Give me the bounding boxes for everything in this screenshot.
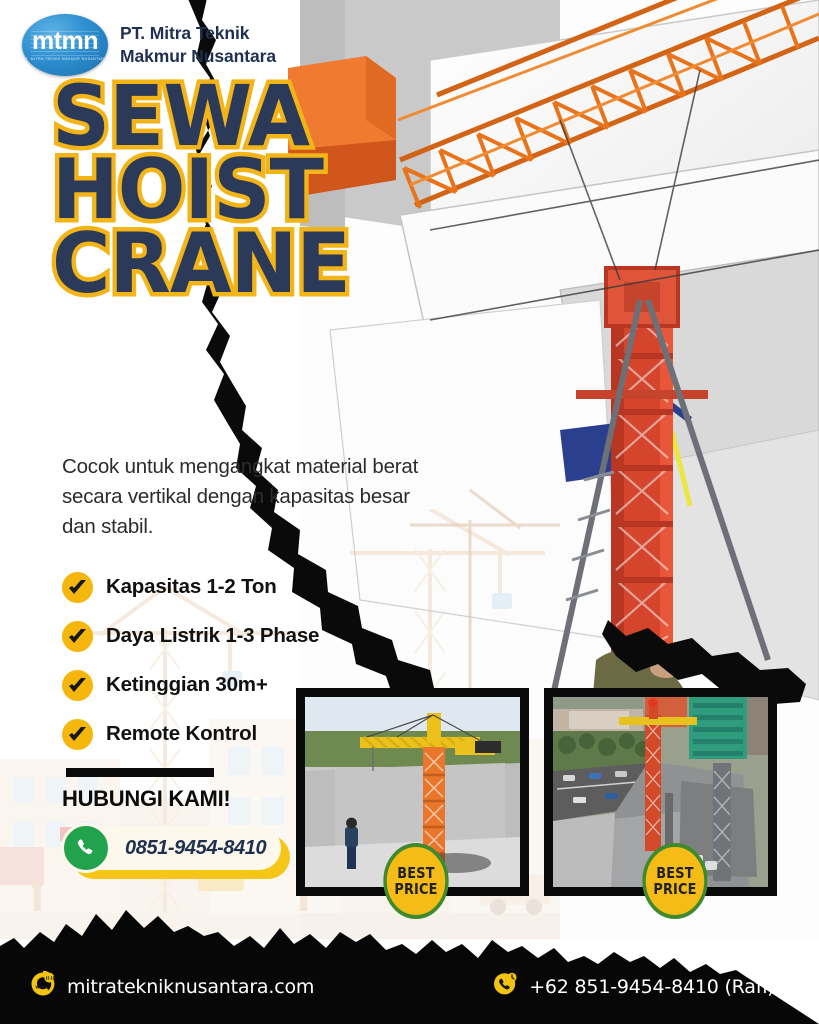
- contact-title: HUBUNGI KAMI!: [62, 786, 230, 812]
- feature-item: Daya Listrik 1-3 Phase: [62, 614, 319, 658]
- check-icon: [62, 621, 93, 652]
- headline-line-3: CRANE: [52, 228, 350, 299]
- feature-item: Kapasitas 1-2 Ton: [62, 565, 319, 609]
- footer-torn-edge: [0, 906, 819, 1024]
- footer-bar: www ((·)) mitratekniknusantara.com +62 8…: [0, 906, 819, 1024]
- whatsapp-icon[interactable]: [61, 823, 111, 873]
- footer-contact-row: www ((·)) mitratekniknusantara.com +62 8…: [0, 971, 819, 1002]
- svg-text:((·)): ((·)): [46, 976, 55, 982]
- footer-website-text: mitratekniknusantara.com: [67, 976, 314, 998]
- footer-phone[interactable]: +62 851-9454-8410 (Rafi): [492, 971, 774, 1002]
- phone-icon: [492, 971, 518, 1002]
- company-name: PT. Mitra Teknik Makmur Nusantara: [120, 22, 276, 68]
- globe-www-icon: www ((·)): [30, 971, 56, 1002]
- logo-subtitle: PT. MITRA TEKNIK MAKMUR NUSANTARA: [23, 57, 107, 61]
- whatsapp-contact-button[interactable]: 0851-9454-8410: [63, 826, 281, 870]
- logo-wordmark: mtmn: [32, 29, 98, 54]
- footer-phone-text: +62 851-9454-8410 (Rafi): [529, 976, 774, 998]
- footer-website[interactable]: www ((·)) mitratekniknusantara.com: [30, 971, 314, 1002]
- company-logo: mtmn PT. MITRA TEKNIK MAKMUR NUSANTARA: [22, 14, 108, 76]
- section-divider-rule: [66, 768, 214, 777]
- feature-label: Ketinggian 30m+: [106, 673, 268, 697]
- headline: SEWA HOIST CRANE: [52, 80, 362, 301]
- best-price-line1: BEST: [397, 865, 434, 881]
- check-icon: [62, 670, 93, 701]
- company-name-line1: PT. Mitra Teknik: [120, 22, 276, 45]
- check-icon: [62, 572, 93, 603]
- best-price-line2: PRICE: [653, 881, 696, 897]
- description-text: Cocok untuk mengangkat material berat se…: [62, 452, 422, 542]
- feature-item: Remote Kontrol: [62, 712, 319, 756]
- feature-list: Kapasitas 1-2 Ton Daya Listrik 1-3 Phase…: [62, 565, 319, 761]
- best-price-line1: BEST: [656, 865, 693, 881]
- feature-label: Daya Listrik 1-3 Phase: [106, 624, 319, 648]
- check-icon: [62, 719, 93, 750]
- company-name-line2: Makmur Nusantara: [120, 45, 276, 68]
- brand-header: mtmn PT. MITRA TEKNIK MAKMUR NUSANTARA P…: [22, 14, 276, 76]
- feature-label: Kapasitas 1-2 Ton: [106, 575, 277, 599]
- feature-item: Ketinggian 30m+: [62, 663, 319, 707]
- whatsapp-number: 0851-9454-8410: [125, 837, 266, 860]
- best-price-line2: PRICE: [394, 881, 437, 897]
- feature-label: Remote Kontrol: [106, 722, 257, 746]
- poster-canvas: mtmn PT. MITRA TEKNIK MAKMUR NUSANTARA P…: [0, 0, 819, 1024]
- svg-text:www: www: [35, 984, 49, 990]
